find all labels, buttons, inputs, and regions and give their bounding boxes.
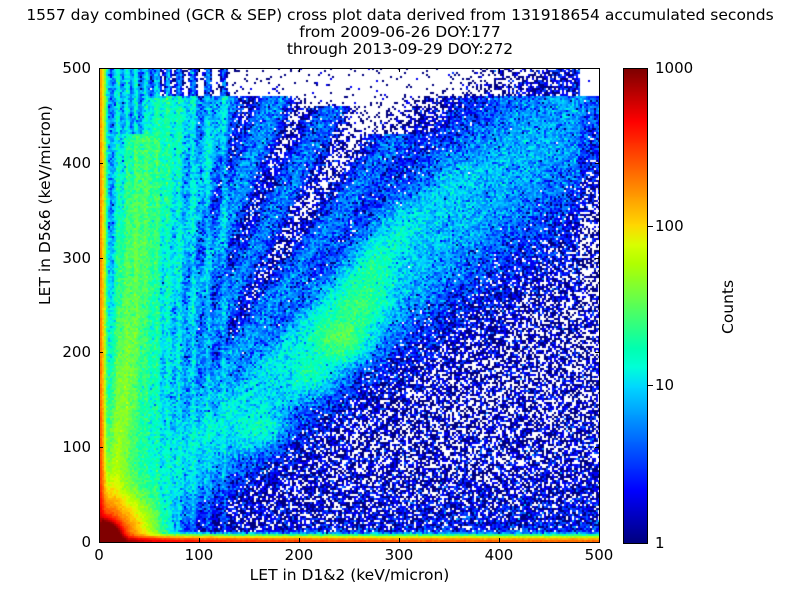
y-tick	[595, 163, 599, 164]
title-line-3: through 2013-09-29 DOY:272	[0, 41, 800, 57]
colorbar-tick-label: 1	[655, 534, 665, 552]
x-tick-label: 200	[269, 546, 329, 564]
x-tick-label: 400	[469, 546, 529, 564]
x-tick	[399, 68, 400, 72]
x-tick-label: 500	[569, 546, 629, 564]
colorbar	[623, 68, 648, 544]
y-tick	[595, 258, 599, 259]
x-tick	[299, 68, 300, 72]
x-axis-title: LET in D1&2 (keV/micron)	[99, 566, 600, 584]
figure-title: 1557 day combined (GCR & SEP) cross plot…	[0, 0, 800, 57]
title-line-1: 1557 day combined (GCR & SEP) cross plot…	[0, 7, 800, 23]
colorbar-title: Counts	[719, 280, 737, 334]
figure-canvas: 1557 day combined (GCR & SEP) cross plot…	[0, 0, 800, 600]
y-tick	[595, 68, 599, 69]
plot-area	[99, 68, 600, 543]
y-tick	[99, 542, 103, 543]
x-tick	[299, 538, 300, 542]
y-tick-label: 200	[31, 343, 91, 361]
y-tick	[99, 352, 103, 353]
y-tick-label: 500	[31, 59, 91, 77]
x-tick-label: 300	[369, 546, 429, 564]
y-axis-title: LET in D5&6 (keV/micron)	[36, 105, 54, 305]
x-tick	[499, 68, 500, 72]
x-tick	[199, 538, 200, 542]
x-tick-label: 100	[169, 546, 229, 564]
y-tick	[99, 447, 103, 448]
x-tick	[399, 538, 400, 542]
colorbar-tick-label: 1000	[655, 59, 693, 77]
y-tick	[99, 68, 103, 69]
y-tick	[595, 352, 599, 353]
y-tick	[99, 163, 103, 164]
y-tick	[99, 258, 103, 259]
colorbar-tick-label: 100	[655, 217, 684, 235]
y-tick	[595, 542, 599, 543]
heatmap-image	[100, 69, 599, 542]
x-tick	[499, 538, 500, 542]
title-line-2: from 2009-06-26 DOY:177	[0, 24, 800, 40]
colorbar-tick	[648, 385, 653, 386]
colorbar-tick	[648, 226, 653, 227]
x-tick	[199, 68, 200, 72]
y-tick	[595, 447, 599, 448]
colorbar-tick-label: 10	[655, 376, 674, 394]
y-tick-label: 100	[31, 438, 91, 456]
x-tick	[599, 538, 600, 542]
y-tick-label: 0	[31, 533, 91, 551]
colorbar-gradient	[624, 69, 647, 543]
x-tick	[599, 68, 600, 72]
